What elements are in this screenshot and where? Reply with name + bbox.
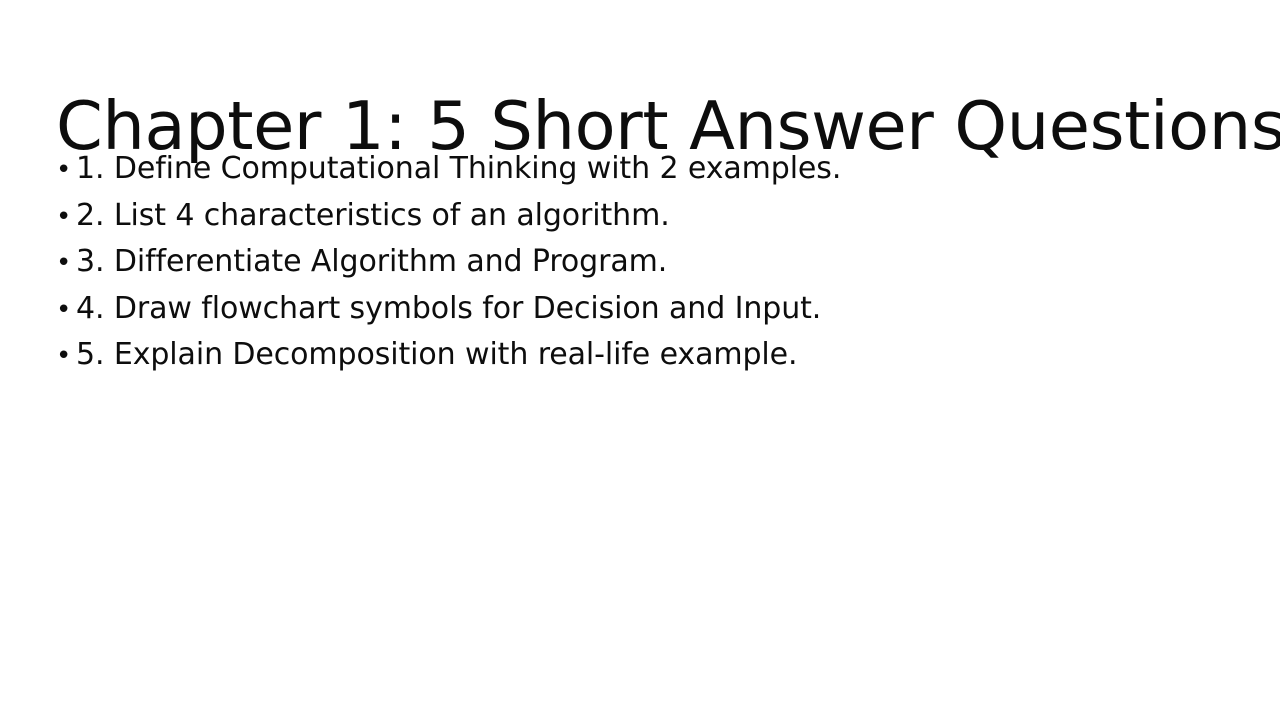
- list-item: • 1. Define Computational Thinking with …: [56, 146, 1226, 193]
- bullet-point-icon: •: [56, 194, 76, 241]
- list-item: • 3. Differentiate Algorithm and Program…: [56, 239, 1226, 286]
- bullet-point-icon: •: [56, 333, 76, 380]
- bullet-point-icon: •: [56, 147, 76, 194]
- presentation-slide: Chapter 1: 5 Short Answer Questions • 1.…: [0, 0, 1280, 720]
- question-list: • 1. Define Computational Thinking with …: [56, 146, 1226, 379]
- list-item-label: 3. Differentiate Algorithm and Program.: [76, 239, 667, 286]
- list-item-label: 2. List 4 characteristics of an algorith…: [76, 193, 670, 240]
- list-item-label: 1. Define Computational Thinking with 2 …: [76, 146, 841, 193]
- list-item-label: 5. Explain Decomposition with real-life …: [76, 332, 797, 379]
- list-item: • 2. List 4 characteristics of an algori…: [56, 193, 1226, 240]
- list-item-label: 4. Draw flowchart symbols for Decision a…: [76, 286, 821, 333]
- list-item: • 5. Explain Decomposition with real-lif…: [56, 332, 1226, 379]
- list-item: • 4. Draw flowchart symbols for Decision…: [56, 286, 1226, 333]
- bullet-point-icon: •: [56, 240, 76, 287]
- bullet-point-icon: •: [56, 287, 76, 334]
